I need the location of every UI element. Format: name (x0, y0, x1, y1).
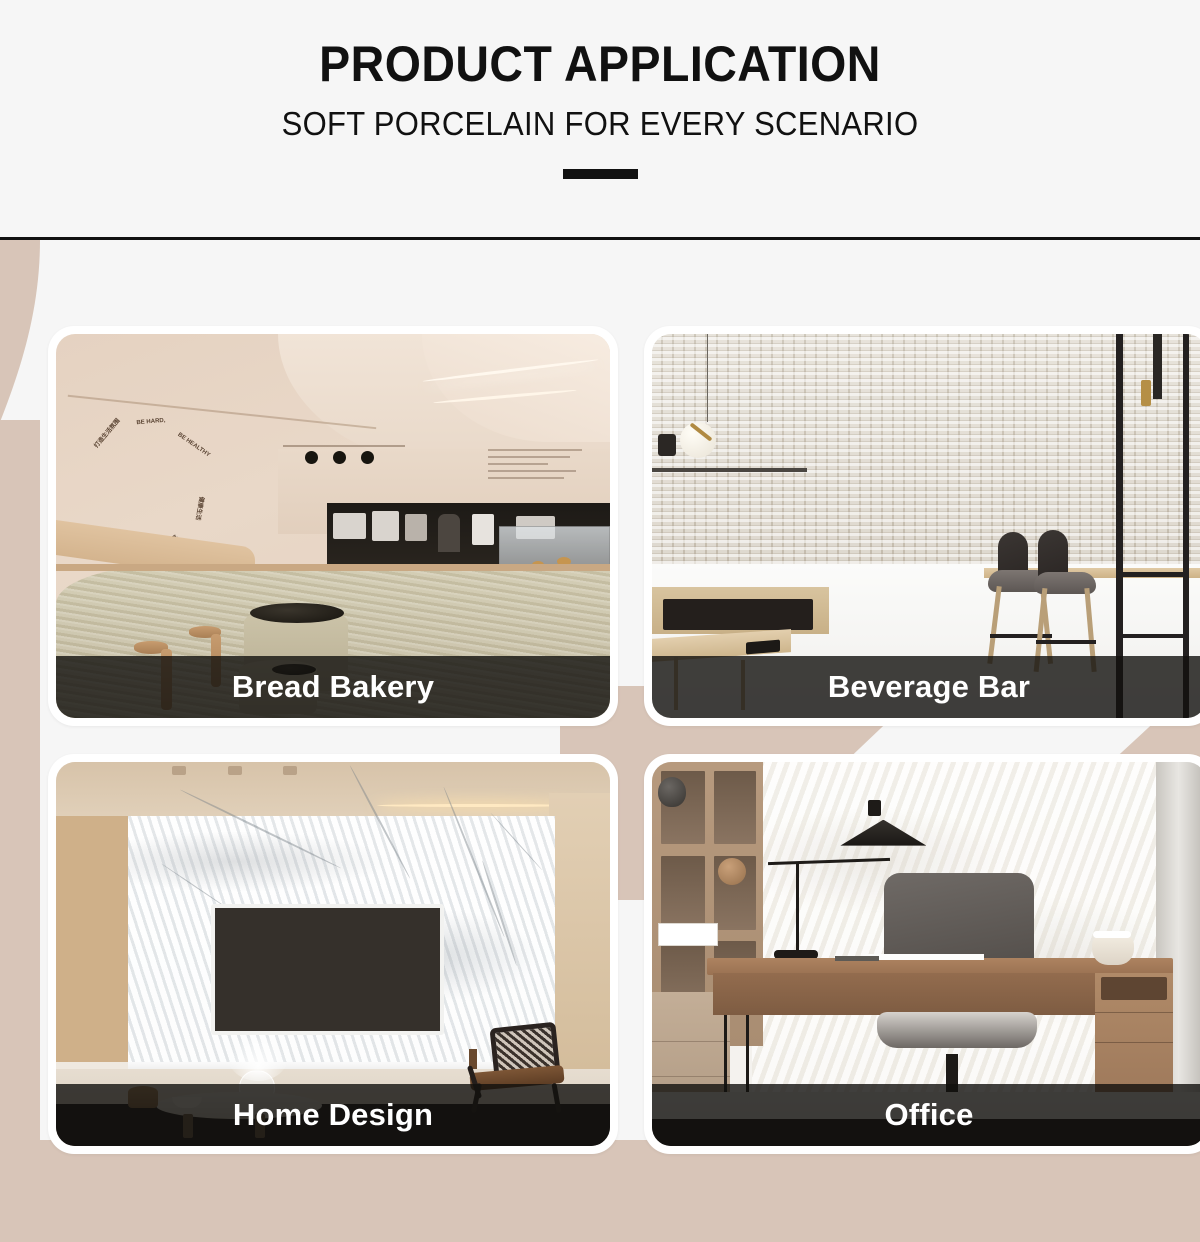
card-image-frame: 打造生活氛围 BE HARD, BE HEALTHY 健康生活 让家更美 (56, 334, 610, 718)
application-card-office[interactable]: Office (644, 754, 1200, 1154)
accent-bar-divider (563, 169, 638, 179)
card-caption-label: Bread Bakery (232, 669, 434, 705)
card-caption-label: Home Design (233, 1097, 433, 1133)
card-image-frame: Home Design (56, 762, 610, 1146)
page-header: PRODUCT APPLICATION SOFT PORCELAIN FOR E… (0, 0, 1200, 240)
card-image-frame: Office (652, 762, 1200, 1146)
card-image-frame: Beverage Bar (652, 334, 1200, 718)
card-caption-band: Home Design (56, 1084, 610, 1146)
card-caption-band: Bread Bakery (56, 656, 610, 718)
application-card-bread-bakery[interactable]: 打造生活氛围 BE HARD, BE HEALTHY 健康生活 让家更美 (48, 326, 618, 726)
card-caption-band: Beverage Bar (652, 656, 1200, 718)
card-caption-band: Office (652, 1084, 1200, 1146)
application-card-beverage-bar[interactable]: Beverage Bar (644, 326, 1200, 726)
application-card-grid: 打造生活氛围 BE HARD, BE HEALTHY 健康生活 让家更美 (0, 240, 1200, 1242)
page-title: PRODUCT APPLICATION (42, 38, 1158, 91)
page-subtitle: SOFT PORCELAIN FOR EVERY SCENARIO (36, 105, 1164, 143)
card-caption-label: Beverage Bar (828, 669, 1030, 705)
application-card-home-design[interactable]: Home Design (48, 754, 618, 1154)
card-caption-label: Office (884, 1097, 973, 1133)
tv-screen (211, 904, 444, 1035)
